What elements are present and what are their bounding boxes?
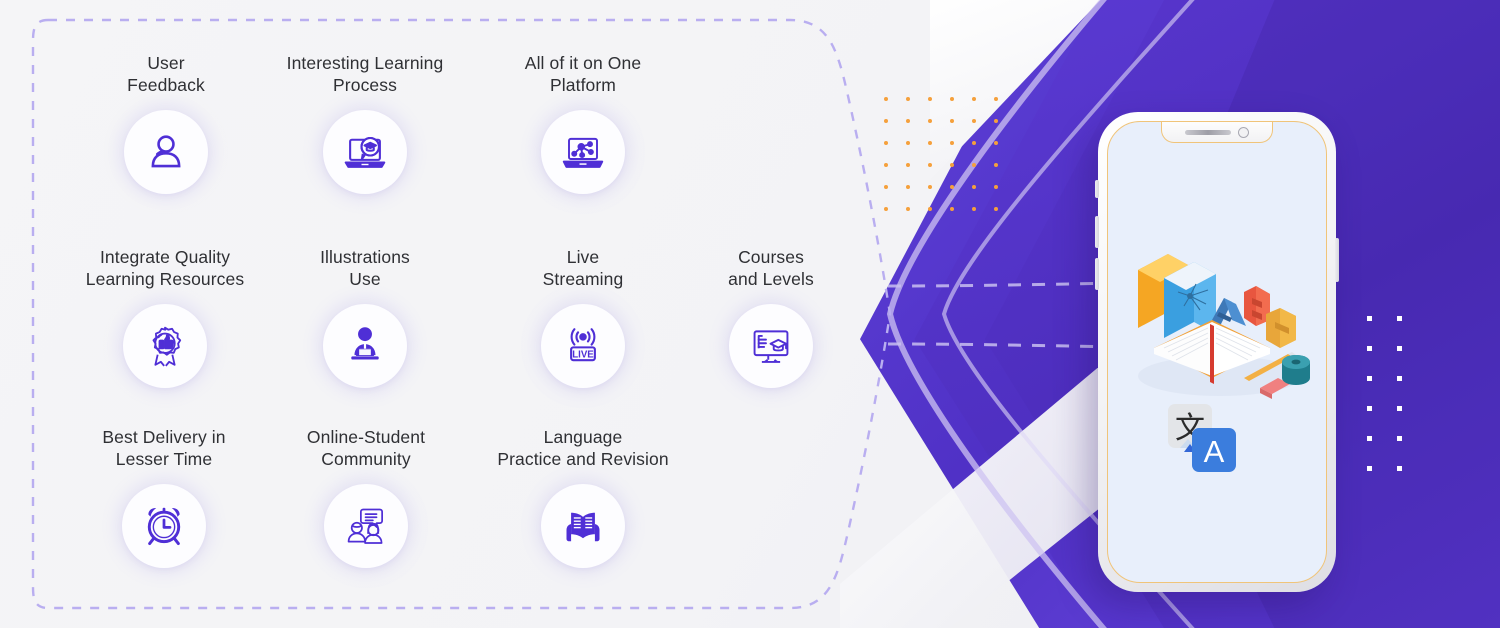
smartphone-mockup: 文 A <box>1098 112 1336 592</box>
letter-a-block <box>1212 298 1246 326</box>
feature-language-practice-revision[interactable]: Language Practice and Revision <box>460 426 706 568</box>
volume-up-button[interactable] <box>1095 216 1099 248</box>
tape-roll <box>1282 355 1310 385</box>
feature-best-delivery-lesser-time[interactable]: Best Delivery in Lesser Time <box>66 426 262 568</box>
volume-down-button[interactable] <box>1095 258 1099 290</box>
feature-label: Courses and Levels <box>690 246 852 290</box>
feature-all-on-one-platform[interactable]: All of it on One Platform <box>483 52 683 194</box>
user-avatar-icon[interactable] <box>124 110 208 194</box>
google-translate-icon[interactable]: 文 A <box>1166 402 1240 476</box>
feature-label: User Feedback <box>85 52 247 96</box>
speaker-grill-icon <box>1185 130 1231 135</box>
infographic-canvas: User Feedback Interesting Learning Proce… <box>0 0 1500 628</box>
feature-integrate-quality-learning-resources[interactable]: Integrate Quality Learning Resources <box>58 246 272 388</box>
feature-label: Language Practice and Revision <box>460 426 706 470</box>
feature-label: Illustrations Use <box>285 246 445 290</box>
feature-user-feedback[interactable]: User Feedback <box>85 52 247 194</box>
laptop-network-icon[interactable] <box>541 110 625 194</box>
feature-online-student-community[interactable]: Online-Student Community <box>268 426 464 568</box>
front-camera-icon <box>1238 127 1249 138</box>
feature-label: All of it on One Platform <box>483 52 683 96</box>
feature-label: Online-Student Community <box>268 426 464 470</box>
svg-text:LIVE: LIVE <box>572 349 594 360</box>
letter-c-block <box>1266 308 1296 348</box>
feature-courses-and-levels[interactable]: Courses and Levels <box>690 246 852 388</box>
feature-grid: User Feedback Interesting Learning Proce… <box>0 0 900 628</box>
feature-label: Best Delivery in Lesser Time <box>66 426 262 470</box>
mute-switch-button[interactable] <box>1095 180 1099 198</box>
orange-dot-grid <box>884 97 1016 229</box>
phone-screen[interactable]: 文 A <box>1107 121 1327 583</box>
translate-target-glyph: A <box>1204 434 1225 469</box>
monitor-graduation-icon[interactable] <box>729 304 813 388</box>
feature-label: Integrate Quality Learning Resources <box>58 246 272 290</box>
person-laptop-icon[interactable] <box>323 304 407 388</box>
feature-live-streaming[interactable]: Live Streaming LIVE <box>503 246 663 388</box>
community-chat-icon[interactable] <box>324 484 408 568</box>
quality-badge-thumbsup-icon[interactable] <box>123 304 207 388</box>
power-button[interactable] <box>1335 238 1339 282</box>
feature-illustrations-use[interactable]: Illustrations Use <box>285 246 445 388</box>
white-dot-grid <box>1367 316 1427 496</box>
laptop-chat-graduation-icon[interactable] <box>323 110 407 194</box>
feature-label: Live Streaming <box>503 246 663 290</box>
live-streaming-icon[interactable]: LIVE <box>541 304 625 388</box>
open-book-hands-icon[interactable] <box>541 484 625 568</box>
feature-label: Interesting Learning Process <box>255 52 475 96</box>
alarm-clock-icon[interactable] <box>122 484 206 568</box>
phone-notch <box>1161 122 1273 143</box>
feature-interesting-learning-process[interactable]: Interesting Learning Process <box>255 52 475 194</box>
isometric-books-illustration <box>1120 226 1320 411</box>
